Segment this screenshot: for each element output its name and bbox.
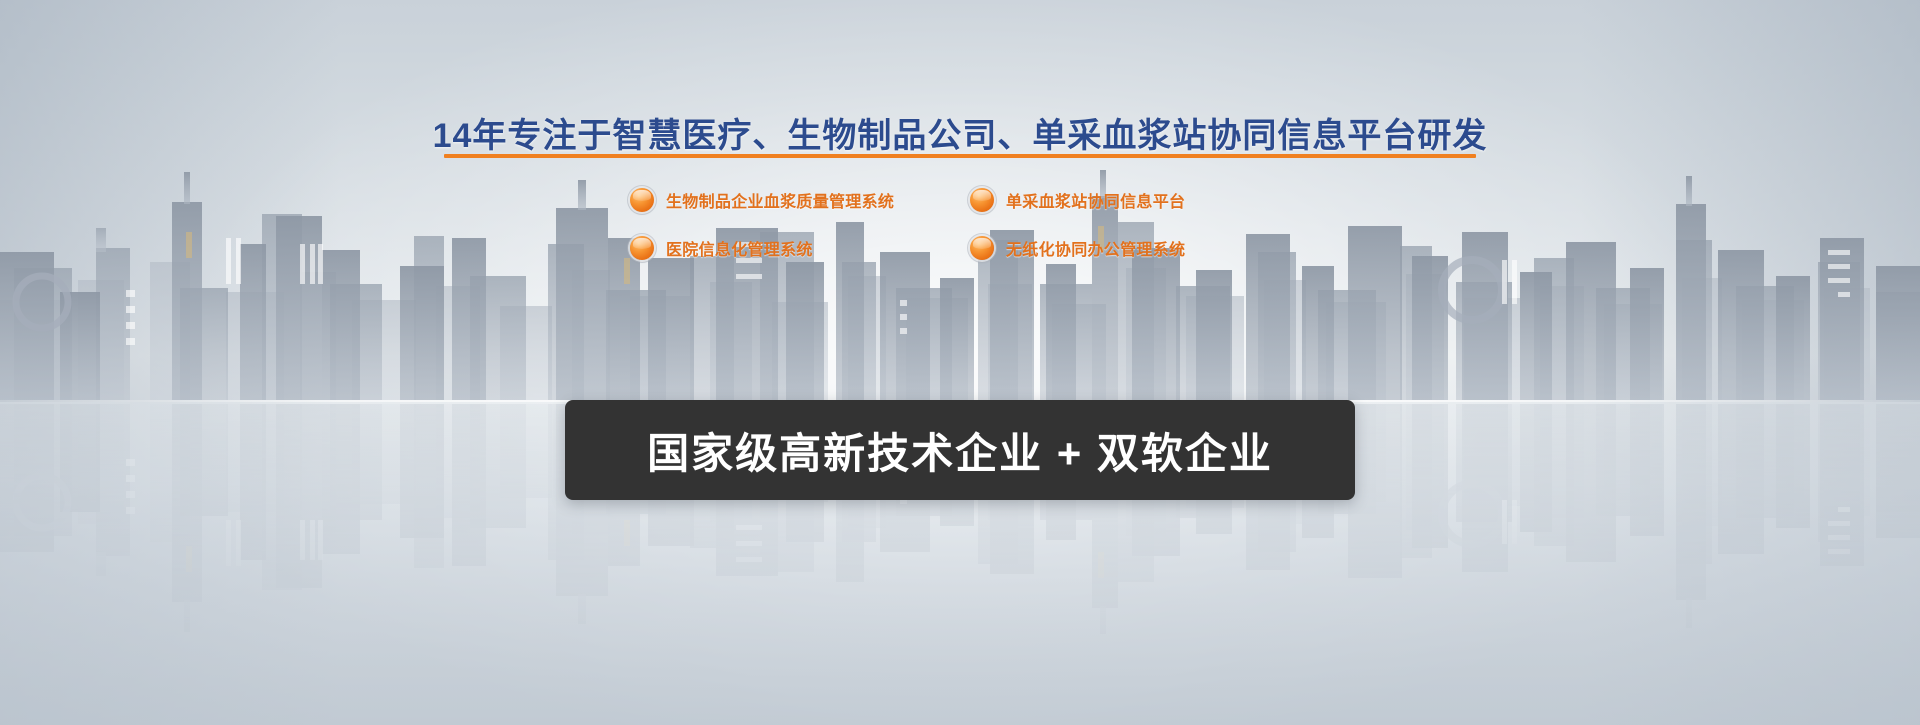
- feature-label: 医院信息化管理系统: [666, 236, 813, 260]
- orange-sphere-bullet-icon: [630, 236, 654, 260]
- feature-label: 生物制品企业血浆质量管理系统: [666, 188, 894, 212]
- list-item[interactable]: 生物制品企业血浆质量管理系统: [630, 188, 970, 212]
- page-title: 14年专注于智慧医疗、生物制品公司、单采血浆站协同信息平台研发: [0, 108, 1920, 157]
- list-item[interactable]: 医院信息化管理系统: [630, 236, 970, 260]
- orange-sphere-bullet-icon: [630, 188, 654, 212]
- feature-list: 生物制品企业血浆质量管理系统 单采血浆站协同信息平台 医院信息化管理系统 无纸化…: [630, 188, 1290, 260]
- feature-label: 无纸化协同办公管理系统: [1006, 236, 1185, 260]
- badge-text: 国家级高新技术企业 + 双软企业: [647, 420, 1273, 481]
- list-item[interactable]: 无纸化协同办公管理系统: [970, 236, 1290, 260]
- title-underline-accent: [444, 154, 1476, 158]
- banner-content: 14年专注于智慧医疗、生物制品公司、单采血浆站协同信息平台研发 生物制品企业血浆…: [0, 0, 1920, 725]
- feature-label: 单采血浆站协同信息平台: [1006, 188, 1185, 212]
- status-badge: 国家级高新技术企业 + 双软企业: [565, 400, 1355, 500]
- promotional-banner: 14年专注于智慧医疗、生物制品公司、单采血浆站协同信息平台研发 生物制品企业血浆…: [0, 0, 1920, 725]
- orange-sphere-bullet-icon: [970, 236, 994, 260]
- orange-sphere-bullet-icon: [970, 188, 994, 212]
- list-item[interactable]: 单采血浆站协同信息平台: [970, 188, 1290, 212]
